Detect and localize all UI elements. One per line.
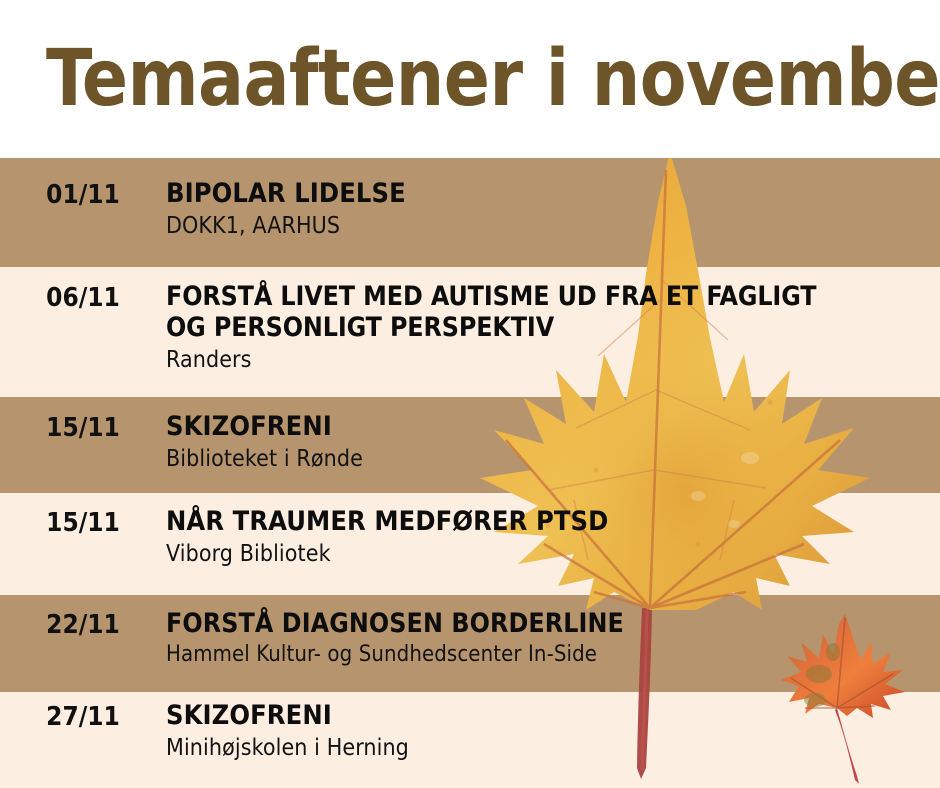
event-title: FORSTÅ LIVET MED AUTISME UD FRA ET FAGLI… <box>166 281 826 344</box>
event-title: FORSTÅ DIAGNOSEN BORDERLINE <box>166 608 826 639</box>
poster-canvas: Temaaftener i november 01/11 BIPOLAR LID… <box>0 0 940 788</box>
event-date: 06/11 <box>0 281 166 313</box>
event-row: 27/11 SKIZOFRENI Minihøjskolen i Herning <box>0 700 940 763</box>
event-title: BIPOLAR LIDELSE <box>166 178 826 210</box>
event-body: SKIZOFRENI Minihøjskolen i Herning <box>166 700 940 763</box>
event-row: 15/11 SKIZOFRENI Biblioteket i Rønde <box>0 411 940 474</box>
event-date: 27/11 <box>0 700 166 732</box>
event-body: FORSTÅ LIVET MED AUTISME UD FRA ET FAGLI… <box>166 281 940 374</box>
event-date: 15/11 <box>0 411 166 443</box>
event-body: FORSTÅ DIAGNOSEN BORDERLINE Hammel Kultu… <box>166 608 940 669</box>
title-bar: Temaaftener i november <box>0 0 940 158</box>
event-date: 22/11 <box>0 608 166 640</box>
event-venue: Minihøjskolen i Herning <box>166 734 866 763</box>
event-body: BIPOLAR LIDELSE DOKK1, AARHUS <box>166 178 940 241</box>
event-row: 15/11 NÅR TRAUMER MEDFØRER PTSD Viborg B… <box>0 506 940 569</box>
event-row: 22/11 FORSTÅ DIAGNOSEN BORDERLINE Hammel… <box>0 608 940 669</box>
event-venue: DOKK1, AARHUS <box>166 212 866 241</box>
event-title: SKIZOFRENI <box>166 700 826 732</box>
event-row: 06/11 FORSTÅ LIVET MED AUTISME UD FRA ET… <box>0 281 940 374</box>
event-venue: Biblioteket i Rønde <box>166 445 866 474</box>
event-row: 01/11 BIPOLAR LIDELSE DOKK1, AARHUS <box>0 178 940 241</box>
event-venue: Hammel Kultur- og Sundhedscenter In-Side <box>166 641 866 669</box>
event-venue: Viborg Bibliotek <box>166 540 866 569</box>
event-body: SKIZOFRENI Biblioteket i Rønde <box>166 411 940 474</box>
event-venue: Randers <box>166 346 866 375</box>
event-body: NÅR TRAUMER MEDFØRER PTSD Viborg Bibliot… <box>166 506 940 569</box>
event-title: SKIZOFRENI <box>166 411 826 443</box>
event-title: NÅR TRAUMER MEDFØRER PTSD <box>166 506 826 538</box>
event-date: 01/11 <box>0 178 166 210</box>
event-date: 15/11 <box>0 506 166 538</box>
page-title: Temaaftener i november <box>46 40 940 118</box>
